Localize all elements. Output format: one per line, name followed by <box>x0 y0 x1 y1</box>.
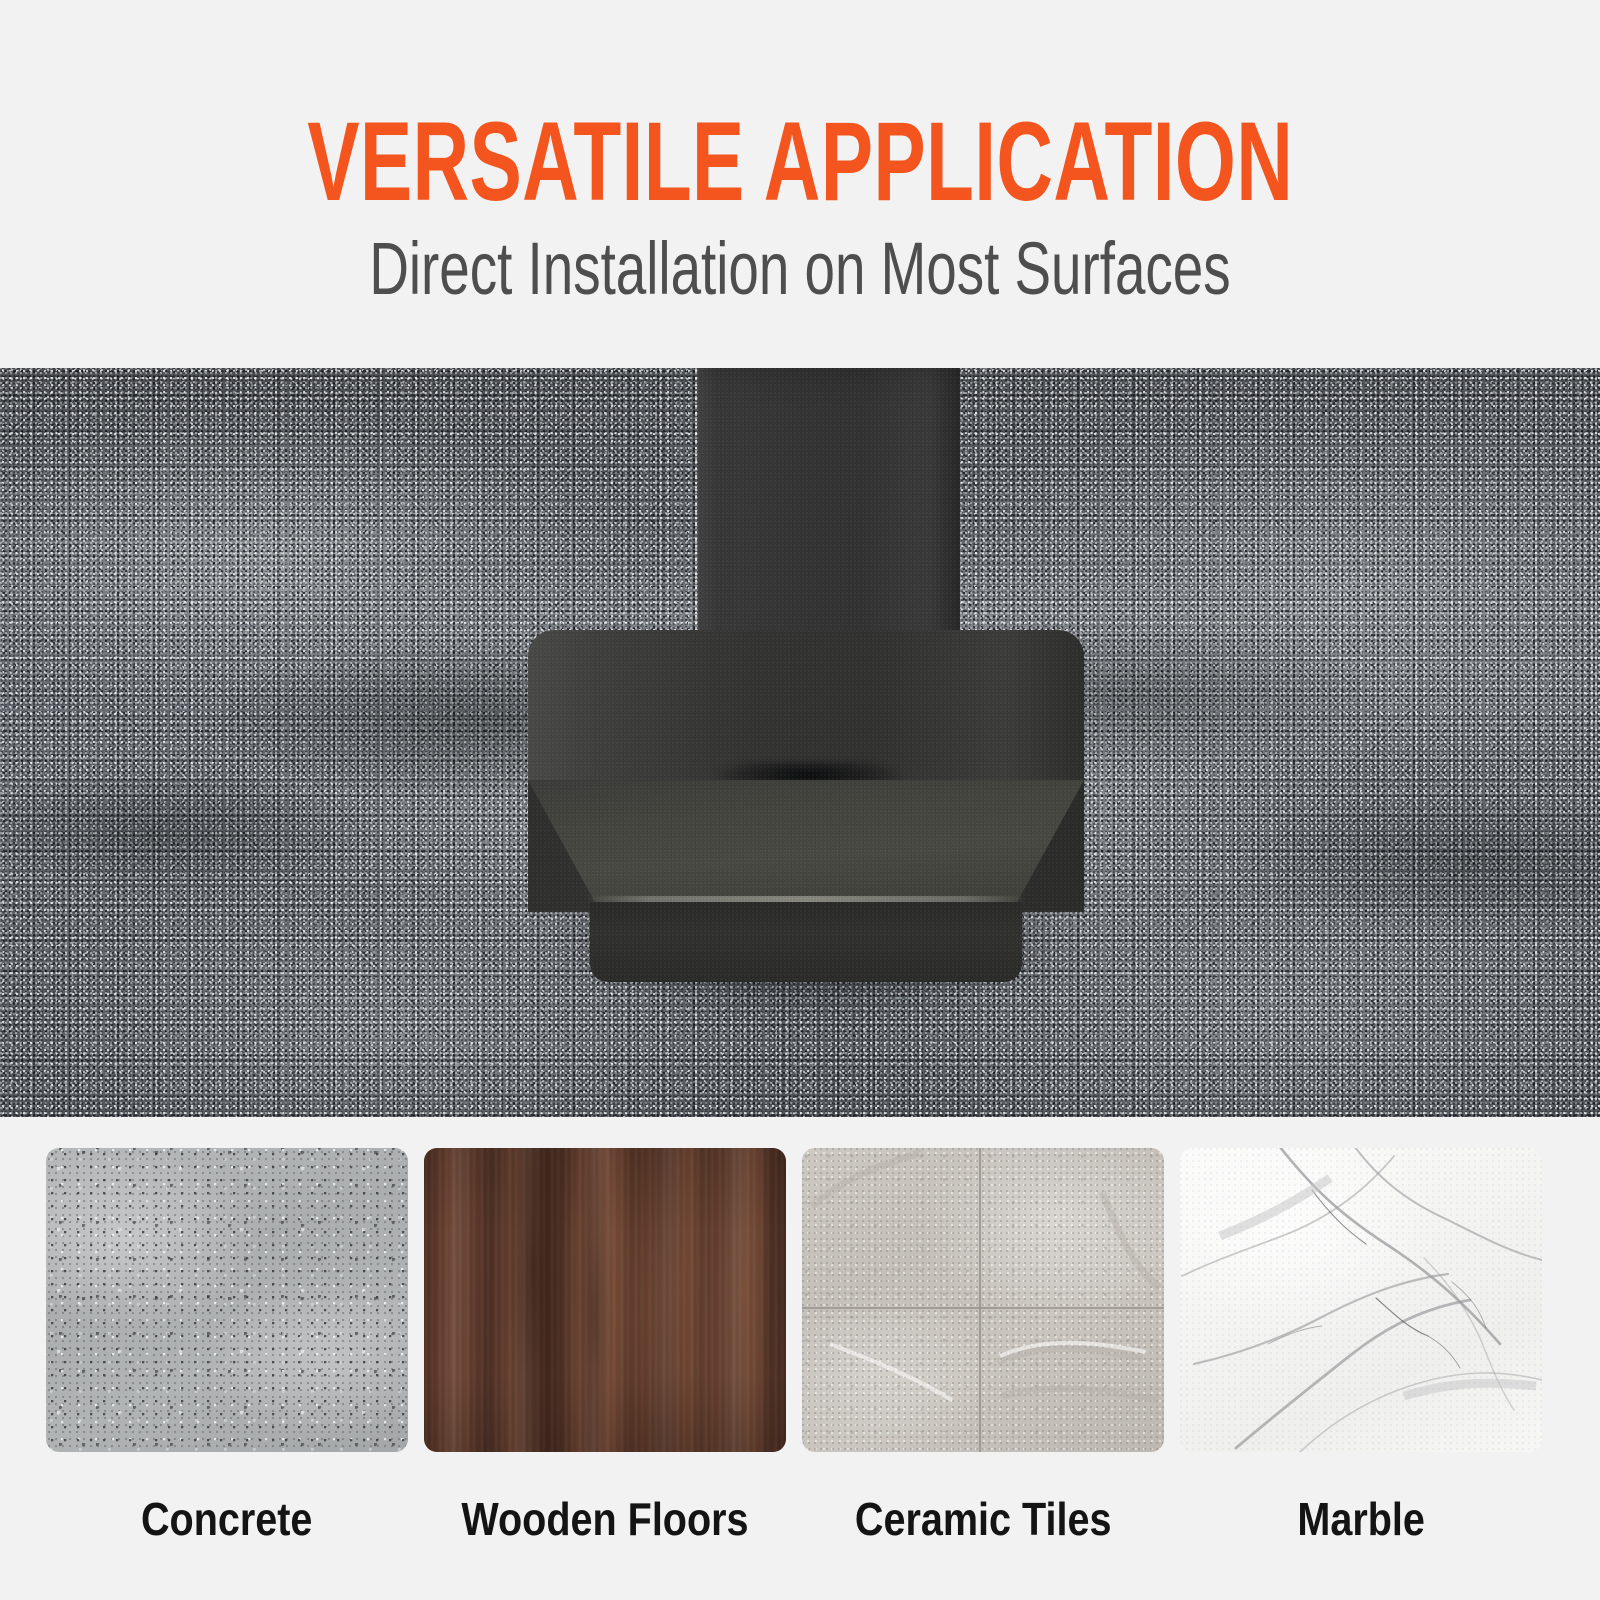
flange-bottom-skirt <box>590 902 1022 982</box>
surface-item-marble[interactable]: Marble <box>1180 1148 1542 1546</box>
hero-product-photo <box>0 368 1600 1117</box>
page-title: VERSATILE APPLICATION <box>307 106 1293 218</box>
marble-veining <box>1180 1148 1542 1452</box>
surface-swatch-strip: Concrete Wooden Floors <box>0 1117 1600 1600</box>
surface-item-wooden-floors[interactable]: Wooden Floors <box>424 1148 786 1546</box>
surface-label-concrete: Concrete <box>141 1492 312 1546</box>
post-base-flange <box>528 630 1084 982</box>
concrete-swatch <box>46 1148 408 1452</box>
ceramic-tiles-swatch <box>802 1148 1164 1452</box>
surface-item-ceramic-tiles[interactable]: Ceramic Tiles <box>802 1148 1164 1546</box>
marble-swatch <box>1180 1148 1542 1452</box>
header-banner: VERSATILE APPLICATION Direct Installatio… <box>0 0 1600 368</box>
surface-label-marble: Marble <box>1297 1492 1425 1546</box>
surface-label-ceramic-tiles: Ceramic Tiles <box>855 1492 1112 1546</box>
surface-item-concrete[interactable]: Concrete <box>46 1148 408 1546</box>
flange-top-face <box>528 780 1084 912</box>
page-subtitle: Direct Installation on Most Surfaces <box>369 232 1230 306</box>
tile-grout-lines <box>802 1148 1164 1452</box>
surface-label-wooden-floors: Wooden Floors <box>461 1492 748 1546</box>
surface-list: Concrete Wooden Floors <box>46 1148 1554 1546</box>
wooden-floors-swatch <box>424 1148 786 1452</box>
